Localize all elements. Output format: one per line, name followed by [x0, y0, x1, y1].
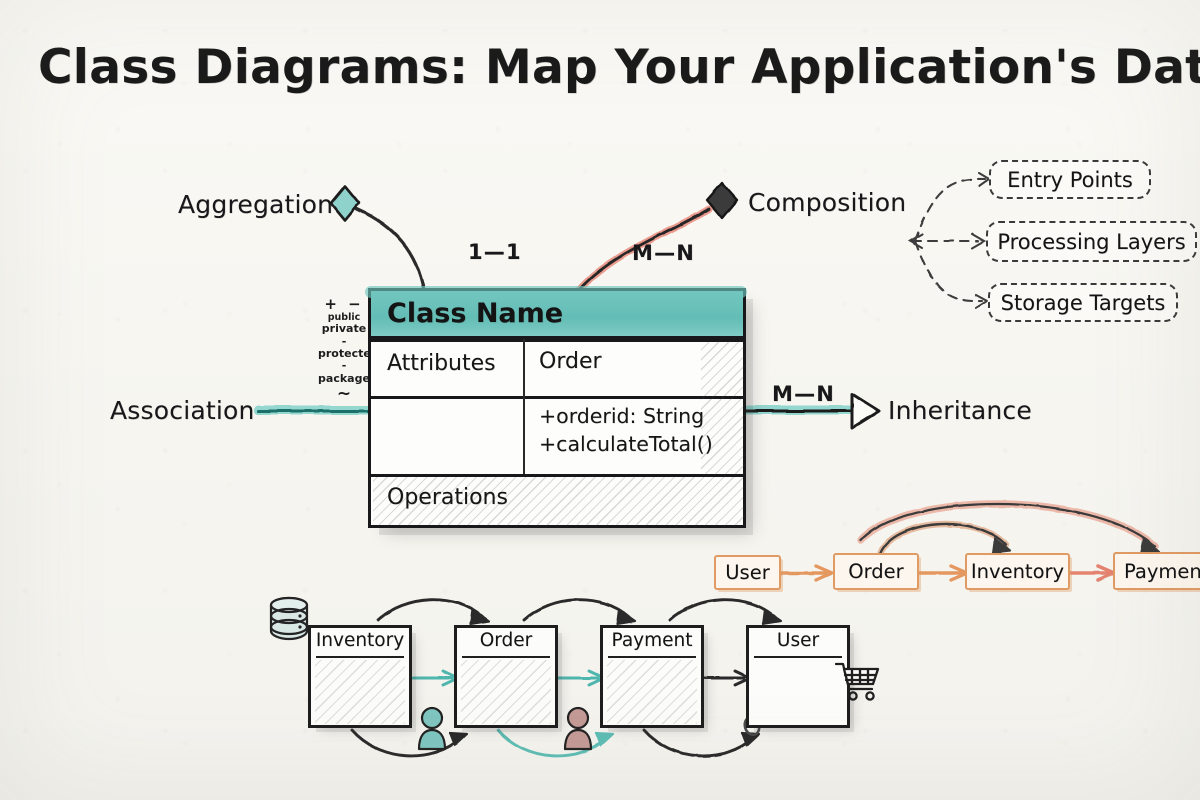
- card-separator: [608, 656, 696, 658]
- card-separator: [316, 656, 404, 658]
- visibility-legend: + − public private -protected -package ~: [318, 296, 370, 404]
- database-icon: [271, 598, 307, 639]
- association-label: Association: [110, 396, 255, 425]
- swimlane-card-inventory-label: Inventory: [311, 630, 409, 651]
- divider-operations-top: [371, 474, 743, 477]
- member-orderid: +orderid: String: [539, 404, 704, 428]
- chain-node-payment-gateway[interactable]: PaymentGa: [1113, 552, 1200, 590]
- card-separator: [754, 656, 842, 658]
- person-icon-rose: [565, 708, 591, 749]
- divider-header-bottom: [371, 339, 743, 342]
- visibility-protected: -protected: [318, 336, 370, 361]
- chain-node-user[interactable]: User: [714, 555, 781, 590]
- swimlane-card-payment[interactable]: Payment: [600, 625, 704, 728]
- page-title: Class Diagrams: Map Your Application's D…: [38, 42, 1178, 94]
- visibility-tilde: ~: [318, 385, 370, 404]
- visibility-symbols: + −: [318, 296, 370, 313]
- chain-node-order-label: Order: [848, 560, 903, 583]
- card-separator: [462, 656, 550, 658]
- aggregation-diamond-marker: [331, 186, 359, 220]
- layer-pill-processing-layers[interactable]: Processing Layers: [986, 221, 1197, 262]
- attributes-label: Attributes: [387, 351, 496, 376]
- swimlane-card-order[interactable]: Order: [454, 625, 558, 728]
- swimlane-card-user-label: User: [749, 630, 847, 651]
- card-hatch: [461, 660, 551, 724]
- layer-pill-processing-layers-label: Processing Layers: [997, 230, 1185, 254]
- aggregation-connector: [357, 209, 424, 291]
- layer-pill-storage-targets-label: Storage Targets: [1001, 291, 1166, 315]
- aggregation-label: Aggregation: [178, 190, 333, 219]
- swimlane-card-user[interactable]: User: [746, 625, 850, 728]
- operations-label: Operations: [387, 485, 508, 510]
- inheritance-triangle-marker: [852, 394, 879, 428]
- card-hatch: [607, 660, 697, 724]
- divider-columns: [523, 339, 525, 474]
- chain-node-order[interactable]: Order: [833, 553, 919, 590]
- visibility-package: -package: [318, 360, 370, 385]
- class-name-text: Class Name: [387, 298, 563, 329]
- chain-node-inventory[interactable]: Inventory: [965, 553, 1070, 590]
- chain-node-payment-gateway-label: PaymentGa: [1124, 560, 1200, 583]
- layer-pill-storage-targets[interactable]: Storage Targets: [988, 283, 1178, 322]
- layer-pill-entry-points-label: Entry Points: [1007, 168, 1133, 192]
- visibility-private: private: [318, 323, 370, 335]
- layers-dashed-connectors: [910, 173, 989, 308]
- composition-diamond-marker: [707, 183, 737, 218]
- divider-attributes-bottom: [371, 396, 743, 399]
- infographic-canvas: Class Diagrams: Map Your Application's D…: [0, 0, 1200, 800]
- inheritance-label: Inheritance: [888, 396, 1032, 425]
- inheritance-multiplicity: M—N: [772, 382, 835, 406]
- layer-pill-entry-points[interactable]: Entry Points: [989, 160, 1151, 199]
- member-calculate-total: +calculateTotal(): [539, 432, 713, 456]
- swimlane-card-payment-label: Payment: [603, 630, 701, 651]
- swimlane-card-order-label: Order: [457, 630, 555, 651]
- composition-multiplicity: M—N: [632, 241, 695, 265]
- card-hatch: [315, 660, 405, 724]
- composition-label: Composition: [748, 188, 906, 217]
- uml-class-box: Class Name Attributes Order +orderid: St…: [368, 288, 746, 528]
- swimlane-card-inventory[interactable]: Inventory: [308, 625, 412, 728]
- aggregation-multiplicity: 1—1: [468, 240, 522, 264]
- chain-node-user-label: User: [725, 561, 769, 584]
- order-class-title: Order: [539, 349, 602, 374]
- person-icon-teal: [419, 708, 445, 749]
- swimlane-connectors: [352, 600, 781, 756]
- chain-node-inventory-label: Inventory: [971, 560, 1064, 583]
